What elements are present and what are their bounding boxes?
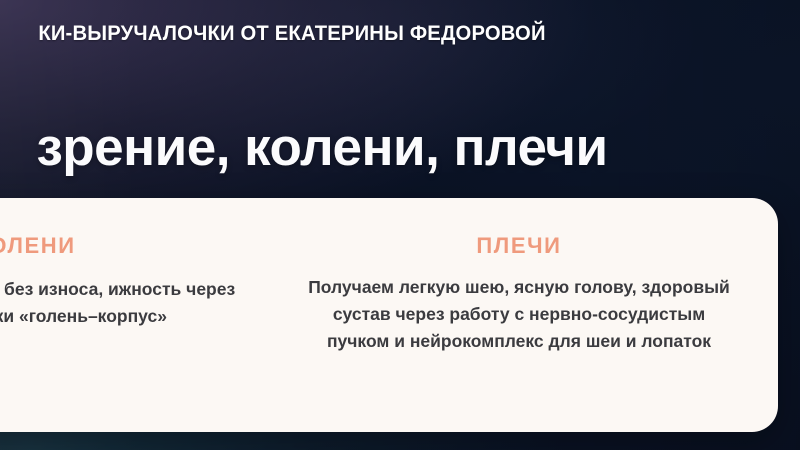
benefit-body-knees: м суставы двигаться без износа, ижность … — [0, 276, 240, 330]
page-title: зрение, колени, плечи — [0, 120, 722, 176]
slide-canvas: КИ-ВЫРУЧАЛОЧКИ ОТ ЕКАТЕРИНЫ ФЕДОРОВОЙ зр… — [0, 0, 800, 450]
eyebrow-text: КИ-ВЫРУЧАЛОЧКИ ОТ ЕКАТЕРИНЫ ФЕДОРОВОЙ — [0, 22, 668, 45]
benefits-card-inner: КОЛЕНИ м суставы двигаться без износа, и… — [0, 198, 778, 432]
benefits-card: КОЛЕНИ м суставы двигаться без износа, и… — [0, 198, 778, 432]
benefit-column-knees: КОЛЕНИ м суставы двигаться без износа, и… — [0, 234, 274, 330]
benefit-title-knees: КОЛЕНИ — [0, 234, 240, 258]
benefit-body-shoulders: Получаем легкую шею, ясную голову, здоро… — [304, 274, 734, 355]
benefit-column-shoulders: ПЛЕЧИ Получаем легкую шею, ясную голову,… — [274, 234, 778, 356]
benefit-title-shoulders: ПЛЕЧИ — [304, 234, 734, 258]
